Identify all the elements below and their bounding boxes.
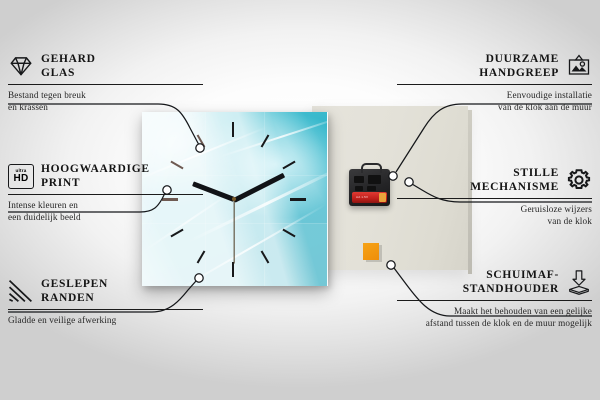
callout-title: DUURZAME HANDGREEP — [479, 52, 559, 81]
callout-title: STILLE MECHANISME — [470, 166, 559, 195]
callout-title-line1: STILLE — [470, 166, 559, 180]
callout-description: Bestand tegen breuk en krassen — [8, 89, 203, 113]
callout-desc-line2: van de klok aan de muur — [397, 101, 592, 113]
hanging-picture-icon — [566, 53, 592, 79]
callout-description: Intense kleuren en een duidelijk beeld — [8, 199, 203, 223]
callout-divider — [8, 84, 203, 85]
infographic-canvas: AA 1.5V — [0, 0, 600, 400]
callout-divider — [397, 300, 592, 301]
callout-title-line2: STANDHOUDER — [463, 282, 559, 296]
callout-desc-line2: afstand tussen de klok en de muur mogeli… — [397, 317, 592, 329]
callout-title-line1: GEHARD — [41, 52, 96, 66]
callout-desc-line1: Eenvoudige installatie — [397, 89, 592, 101]
callout-desc-line1: Gladde en veilige afwerking — [8, 314, 203, 326]
callout-header: GESLEPEN RANDEN — [8, 277, 203, 306]
callout-desc-line1: Maakt het behouden van een gelijke — [397, 305, 592, 317]
callout-title-line2: GLAS — [41, 66, 96, 80]
callout-title-line1: DUURZAME — [479, 52, 559, 66]
callout-hoogwaardige-print: ultra HD HOOGWAARDIGE PRINT Intense kleu… — [8, 162, 203, 223]
callout-header: GEHARD GLAS — [8, 52, 203, 81]
callout-divider — [8, 194, 203, 195]
callout-divider — [8, 309, 203, 310]
beveled-edge-icon — [8, 278, 34, 304]
callout-description: Eenvoudige installatie van de klok aan d… — [397, 89, 592, 113]
callout-desc-line2: van de klok — [397, 215, 592, 227]
callout-divider — [397, 198, 592, 199]
press-pad-icon — [566, 269, 592, 295]
gear-icon — [566, 167, 592, 193]
callout-title-line2: RANDEN — [41, 291, 108, 305]
callout-header: DUURZAME HANDGREEP — [397, 52, 592, 81]
callout-header: ultra HD HOOGWAARDIGE PRINT — [8, 162, 203, 191]
callout-gehard-glas: GEHARD GLAS Bestand tegen breuk en krass… — [8, 52, 203, 113]
callout-desc-line1: Intense kleuren en — [8, 199, 203, 211]
callout-desc-line1: Bestand tegen breuk — [8, 89, 203, 101]
callout-title: GEHARD GLAS — [41, 52, 96, 81]
callout-desc-line2: en krassen — [8, 101, 203, 113]
callout-header: STILLE MECHANISME — [397, 166, 592, 195]
hd-badge-large: HD — [13, 174, 28, 184]
callout-title: SCHUIMAF- STANDHOUDER — [463, 268, 559, 297]
callout-title-line1: GESLEPEN — [41, 277, 108, 291]
diamond-icon — [8, 53, 34, 79]
callout-stille-mechanisme: STILLE MECHANISME Geruisloze wijzers van… — [397, 166, 592, 227]
callout-description: Maakt het behouden van een gelijke afsta… — [397, 305, 592, 329]
callout-title: GESLEPEN RANDEN — [41, 277, 108, 306]
callout-title: HOOGWAARDIGE PRINT — [41, 162, 150, 191]
callout-divider — [397, 84, 592, 85]
ultra-hd-icon: ultra HD — [8, 164, 34, 189]
callout-geslepen-randen: GESLEPEN RANDEN Gladde en veilige afwerk… — [8, 277, 203, 326]
callout-description: Gladde en veilige afwerking — [8, 314, 203, 326]
callout-title-line2: PRINT — [41, 176, 150, 190]
callout-schuimaf-standhouder: SCHUIMAF- STANDHOUDER Maakt het behouden… — [397, 268, 592, 329]
callout-title-line2: HANDGREEP — [479, 66, 559, 80]
callout-desc-line1: Geruisloze wijzers — [397, 203, 592, 215]
callout-desc-line2: een duidelijk beeld — [8, 211, 203, 223]
callout-title-line2: MECHANISME — [470, 180, 559, 194]
callout-title-line1: SCHUIMAF- — [463, 268, 559, 282]
callout-header: SCHUIMAF- STANDHOUDER — [397, 268, 592, 297]
callout-duurzame-handgreep: DUURZAME HANDGREEP Eenvoudige installati… — [397, 52, 592, 113]
callout-title-line1: HOOGWAARDIGE — [41, 162, 150, 176]
callout-description: Geruisloze wijzers van de klok — [397, 203, 592, 227]
